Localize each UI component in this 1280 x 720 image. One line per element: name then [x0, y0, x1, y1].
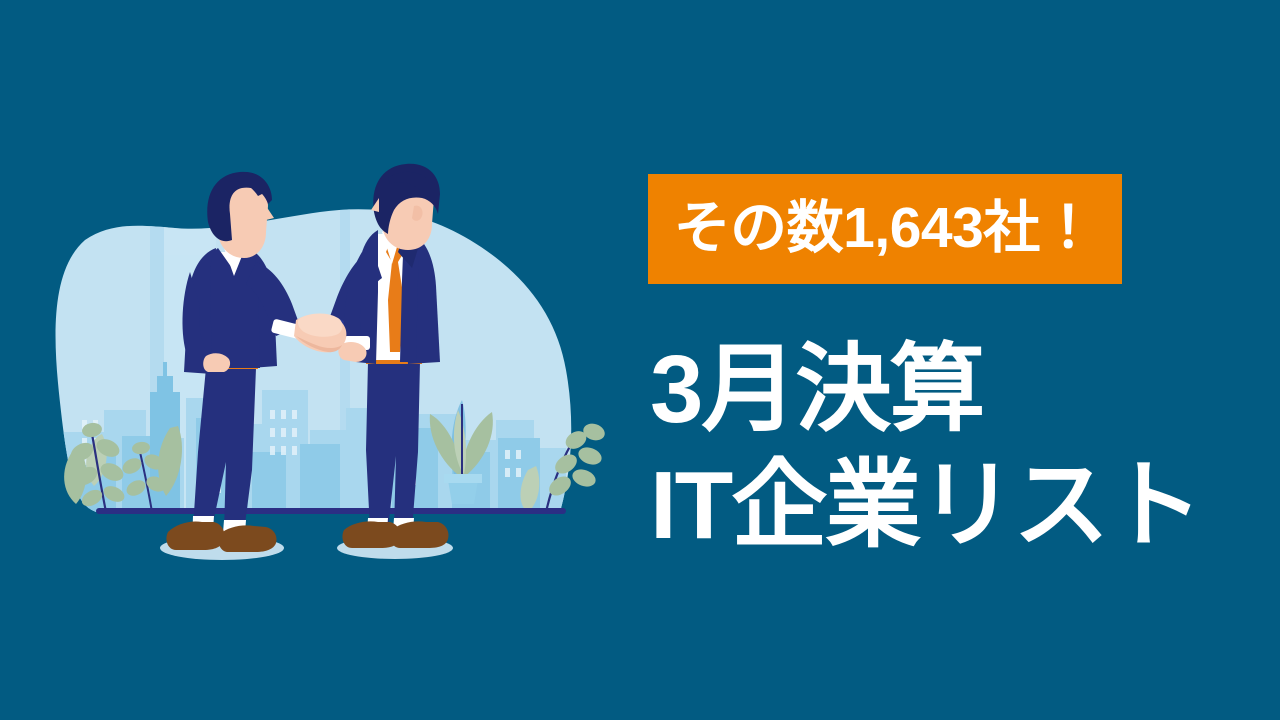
ground-line	[96, 508, 566, 514]
status-badge: その数1,643社！	[648, 174, 1122, 284]
headline-line-1: 3月決算	[650, 332, 1280, 448]
badge-label: その数1,643社！	[674, 200, 1097, 257]
business-handshake-illustration	[0, 0, 640, 720]
text-panel: その数1,643社！ 3月決算 IT企業リスト	[648, 0, 1280, 720]
page-title: 3月決算 IT企業リスト	[650, 332, 1280, 564]
headline-line-2: IT企業リスト	[650, 448, 1280, 564]
poster-canvas: その数1,643社！ 3月決算 IT企業リスト	[0, 0, 1280, 720]
